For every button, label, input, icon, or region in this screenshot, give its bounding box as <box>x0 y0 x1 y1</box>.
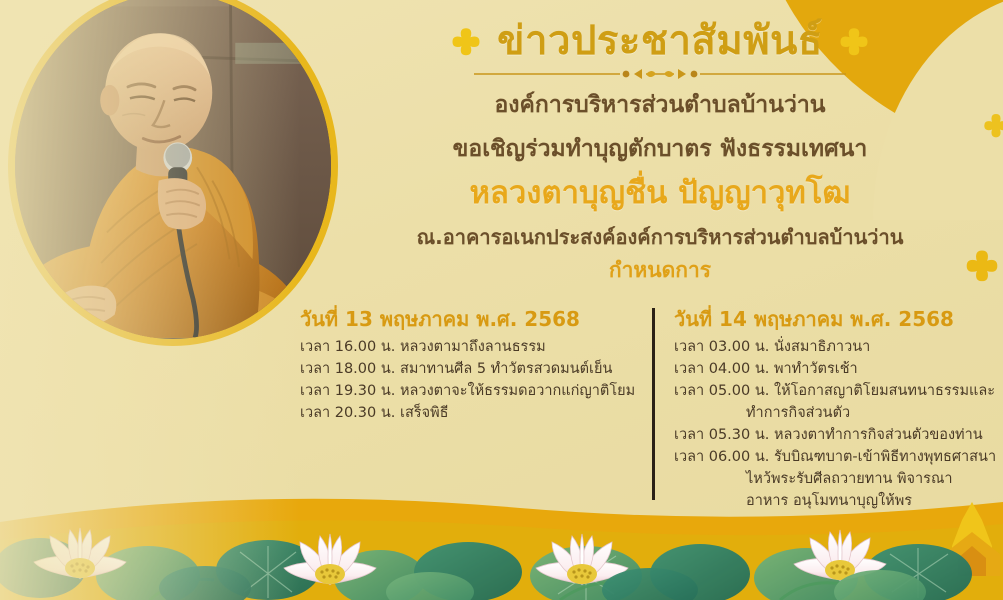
list-item: เวลา 05.00 น. ให้โอกาสญาติโยมสนทนาธรรมแล… <box>674 380 990 402</box>
day1-items: เวลา 16.00 น. หลวงตามาถึงลานธรรม เวลา 18… <box>300 336 638 424</box>
page-title: ข่าวประชาสัมพันธ์ <box>497 18 823 64</box>
list-item: เวลา 20.30 น. เสร็จพิธี <box>300 402 638 424</box>
day1-heading: วันที่ 13 พฤษภาคม พ.ศ. 2568 <box>300 306 638 332</box>
list-item-continuation: ทำการกิจส่วนตัว <box>674 402 990 424</box>
day2-heading: วันที่ 14 พฤษภาคม พ.ศ. 2568 <box>674 306 990 332</box>
monk-portrait-illustration <box>15 0 331 338</box>
schedule-column-day2: วันที่ 14 พฤษภาคม พ.ศ. 2568 เวลา 03.00 น… <box>652 306 990 506</box>
lotus-border-decoration <box>0 480 1003 600</box>
ornamental-rule-icon <box>470 68 850 82</box>
quatrefoil-flower-icon <box>839 26 869 56</box>
list-item: เวลา 19.30 น. หลวงตาจะให้ธรรมดอวากแก่ญาต… <box>300 380 638 402</box>
organization-name: องค์การบริหารส่วนตำบลบ้านว่าน <box>330 90 990 121</box>
list-item: เวลา 06.00 น. รับบิณฑบาต-เข้าพิธีทางพุทธ… <box>674 446 990 468</box>
list-item: เวลา 18.00 น. สมาทานศีล 5 ทำวัตรสวดมนต์เ… <box>300 358 638 380</box>
lotus-flower-band-icon <box>0 480 1003 600</box>
list-item: เวลา 03.00 น. นั่งสมาธิภาวนา <box>674 336 990 358</box>
schedule-label: กำหนดการ <box>330 257 990 284</box>
quatrefoil-flower-icon <box>965 248 999 282</box>
title-row: ข่าวประชาสัมพันธ์ <box>330 18 990 64</box>
monk-name: หลวงตาบุญชื่น ปัญญาวุทโฒ <box>330 173 990 213</box>
list-item: เวลา 16.00 น. หลวงตามาถึงลานธรรม <box>300 336 638 358</box>
venue-text: ณ.อาคารอเนกประสงค์องค์การบริหารส่วนตำบลบ… <box>330 224 990 251</box>
schedule-column-day1: วันที่ 13 พฤษภาคม พ.ศ. 2568 เวลา 16.00 น… <box>300 306 652 506</box>
photo-oval-frame <box>8 0 338 346</box>
poster-canvas: ข่าวประชาสัมพันธ์ องค์การบริหารส่วนตำบลบ… <box>0 0 1003 600</box>
list-item: เวลา 05.30 น. หลวงตาทำการกิจส่วนตัวของท่… <box>674 424 990 446</box>
quatrefoil-flower-icon <box>451 26 481 56</box>
invitation-text: ขอเชิญร่วมทำบุญตักบาตร ฟังธรรมเทศนา <box>330 133 990 165</box>
header-block: ข่าวประชาสัมพันธ์ องค์การบริหารส่วนตำบลบ… <box>330 18 990 284</box>
monk-photo <box>8 0 338 346</box>
list-item: เวลา 04.00 น. พาทำวัตรเช้า <box>674 358 990 380</box>
schedule-section: วันที่ 13 พฤษภาคม พ.ศ. 2568 เวลา 16.00 น… <box>300 306 990 506</box>
quatrefoil-flower-icon <box>983 112 1003 138</box>
